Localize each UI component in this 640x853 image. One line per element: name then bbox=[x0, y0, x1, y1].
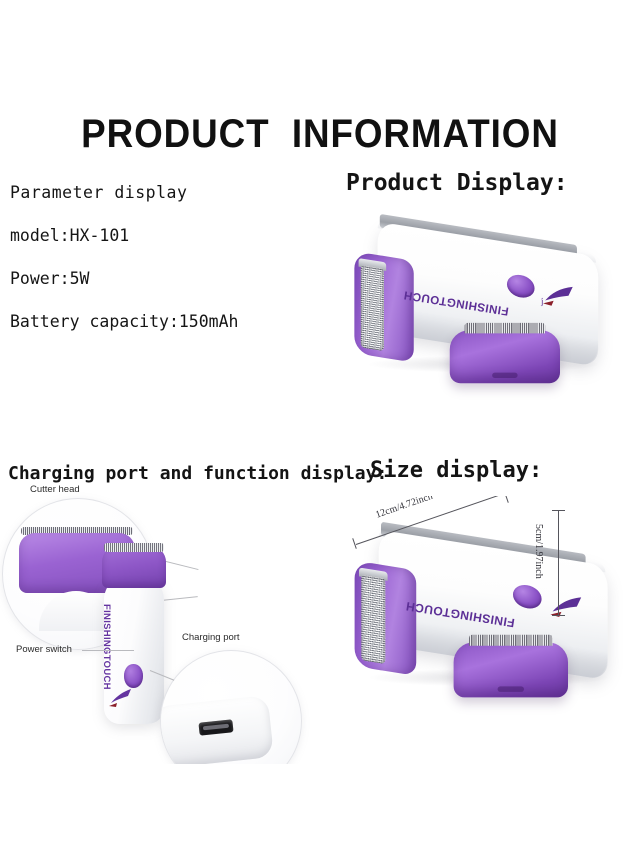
height-dimension-label: 5cm/1.97inch bbox=[533, 524, 544, 579]
length-dimension-label: 12cm/4.72inch bbox=[374, 496, 434, 521]
callout-label-cutter-head: Cutter head bbox=[30, 484, 80, 495]
vertical-device-logo-mark bbox=[108, 686, 134, 708]
size-device-foil-mesh bbox=[361, 574, 385, 664]
size-display-photo: FINISHINGTOUCH 12cm/4.72inch 5cm/1.97inc… bbox=[330, 496, 640, 746]
device-logo-mark: j bbox=[541, 279, 577, 312]
product-information-page: PRODUCT INFORMATION Parameter display mo… bbox=[0, 0, 640, 853]
device-protective-cap bbox=[450, 330, 560, 383]
callout-label-power-switch: Power switch bbox=[16, 644, 72, 655]
parameter-battery-capacity: Battery capacity:150mAh bbox=[10, 312, 325, 331]
svg-text:j: j bbox=[541, 296, 544, 308]
height-dimension-tick-top bbox=[552, 510, 565, 511]
parameter-model: model:HX-101 bbox=[10, 226, 325, 245]
size-device-logo-mark bbox=[548, 589, 585, 624]
vertical-device-brand-text: FINISHINGTOUCH bbox=[101, 604, 112, 690]
vertical-device-shaver-head bbox=[102, 546, 166, 588]
product-display-heading: Product Display: bbox=[346, 170, 568, 196]
device-foil-mesh bbox=[361, 265, 384, 351]
charging-function-photo: Cutter head FINISHINGTOUCH Power bbox=[0, 484, 330, 764]
product-display-photo: FINISHINGTOUCH j bbox=[338, 200, 628, 430]
callout-label-charging-port: Charging port bbox=[182, 632, 240, 643]
product-device-image: FINISHINGTOUCH j bbox=[348, 220, 624, 379]
charging-function-heading: Charging port and function display: bbox=[8, 463, 387, 484]
parameter-power: Power:5W bbox=[10, 269, 325, 288]
page-title: PRODUCT INFORMATION bbox=[26, 112, 615, 157]
height-dimension-line bbox=[558, 510, 559, 616]
size-display-heading: Size display: bbox=[370, 458, 542, 483]
parameter-display-block: Parameter display model:HX-101 Power:5W … bbox=[10, 183, 325, 355]
vertical-device-foil bbox=[104, 543, 164, 552]
size-device-image: FINISHINGTOUCH bbox=[348, 528, 634, 693]
length-dimension-tick-right bbox=[504, 496, 509, 503]
leader-line-power-switch bbox=[82, 650, 134, 651]
vertical-device-power-button[interactable] bbox=[124, 664, 143, 688]
parameter-heading: Parameter display bbox=[10, 183, 325, 202]
size-device-protective-cap bbox=[454, 642, 568, 697]
height-dimension-tick-bottom bbox=[552, 615, 565, 616]
